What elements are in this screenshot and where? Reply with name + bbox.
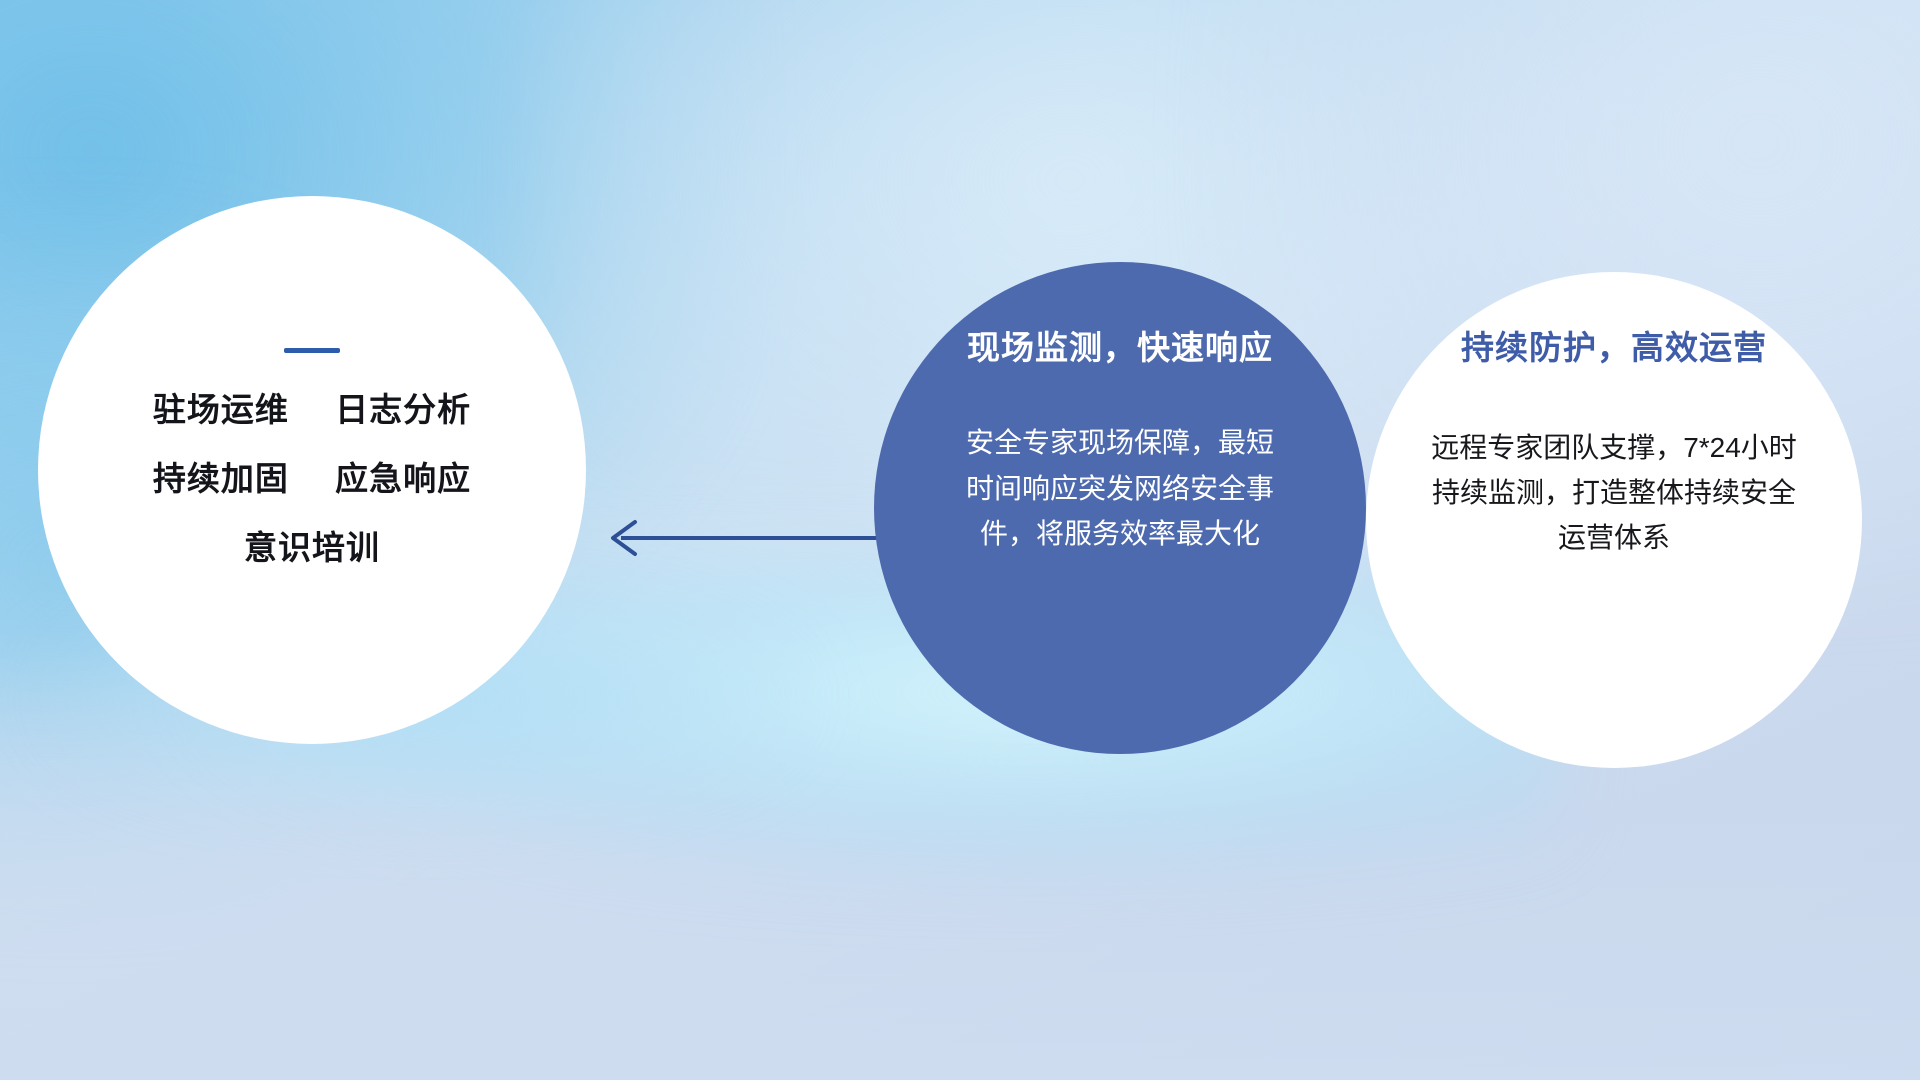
arrow-left-icon xyxy=(595,508,895,568)
slide-canvas: 驻场运维 日志分析 持续加固 应急响应 意识培训 现场监测，快速响应 安全专家现… xyxy=(0,0,1920,1080)
keyword-row: 持续加固 应急响应 xyxy=(153,462,471,495)
keyword-label: 驻场运维 xyxy=(153,391,289,428)
continuous-protection-circle: 持续防护，高效运营 远程专家团队支撑，7*24小时持续监测，打造整体持续安全运营… xyxy=(1366,272,1862,768)
keyword-row: 驻场运维 日志分析 xyxy=(153,393,471,426)
keyword-label: 应急响应 xyxy=(335,460,471,497)
keyword-label: 持续加固 xyxy=(153,460,289,497)
capabilities-circle: 驻场运维 日志分析 持续加固 应急响应 意识培训 xyxy=(38,196,586,744)
continuous-protection-title: 持续防护，高效运营 xyxy=(1461,330,1767,366)
keyword-label: 意识培训 xyxy=(244,529,380,566)
keyword-label: 日志分析 xyxy=(335,391,471,428)
accent-divider xyxy=(284,348,340,353)
onsite-monitoring-body: 安全专家现场保障，最短时间响应突发网络安全事件，将服务效率最大化 xyxy=(960,420,1280,556)
continuous-protection-body: 远程专家团队支撑，7*24小时持续监测，打造整体持续安全运营体系 xyxy=(1428,426,1800,560)
keyword-row: 意识培训 xyxy=(244,531,380,564)
onsite-monitoring-title: 现场监测，快速响应 xyxy=(967,330,1273,366)
onsite-monitoring-circle: 现场监测，快速响应 安全专家现场保障，最短时间响应突发网络安全事件，将服务效率最… xyxy=(874,262,1366,754)
